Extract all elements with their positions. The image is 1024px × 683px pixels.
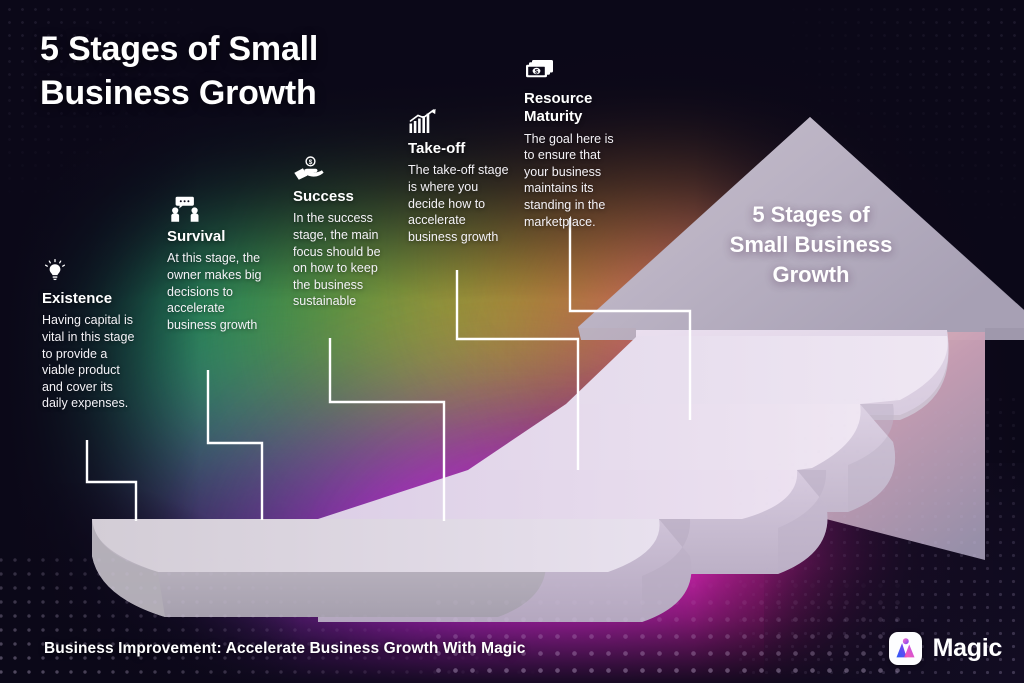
stage-description: Having capital is vital in this stage to… — [42, 312, 142, 412]
stage-card-survival[interactable]: Survival At this stage, the owner makes … — [167, 196, 275, 333]
stage-card-takeoff[interactable]: Take-off The take-off stage is where you… — [408, 108, 512, 245]
stage-description: The goal here is to ensure that your bus… — [524, 131, 626, 231]
dot-texture-top-left — [0, 0, 210, 210]
hero-title-line: Growth — [700, 260, 922, 290]
stage-description: In the success stage, the main focus sho… — [293, 210, 395, 310]
stage-card-resource-maturity[interactable]: $ Resource Maturity The goal here is to … — [524, 58, 626, 230]
stage-description: At this stage, the owner makes big decis… — [167, 250, 275, 333]
svg-text:$: $ — [535, 69, 539, 76]
stage-description: The take-off stage is where you decide h… — [408, 162, 512, 245]
dot-texture-top-right — [774, 0, 1024, 230]
stage-title: Existence — [42, 290, 142, 308]
connector-line-1 — [87, 440, 136, 521]
stage-title: Resource Maturity — [524, 90, 626, 127]
connector-line-2 — [208, 370, 262, 520]
bar-chart-growth-icon — [408, 108, 512, 134]
infographic-canvas: 5 Stages of Small Business Growth Existe… — [0, 0, 1024, 683]
hand-holding-coin-icon: $ — [293, 156, 395, 182]
brand-logo[interactable]: Magic — [889, 632, 1002, 665]
stage-title: Take-off — [408, 140, 512, 158]
stage-title: Survival — [167, 228, 275, 246]
stage-title: Success — [293, 188, 395, 206]
svg-text:$: $ — [309, 159, 313, 166]
footer-tagline: Business Improvement: Accelerate Busines… — [44, 640, 526, 658]
brand-name: Magic — [933, 634, 1002, 663]
stage-card-success[interactable]: $ Success In the success stage, the main… — [293, 156, 395, 310]
hero-title-line: Small Business — [700, 230, 922, 260]
cash-stack-icon: $ — [524, 58, 626, 84]
magic-logo-icon — [889, 632, 922, 665]
lightbulb-icon — [42, 258, 142, 284]
stage-card-existence[interactable]: Existence Having capital is vital in thi… — [42, 258, 142, 412]
